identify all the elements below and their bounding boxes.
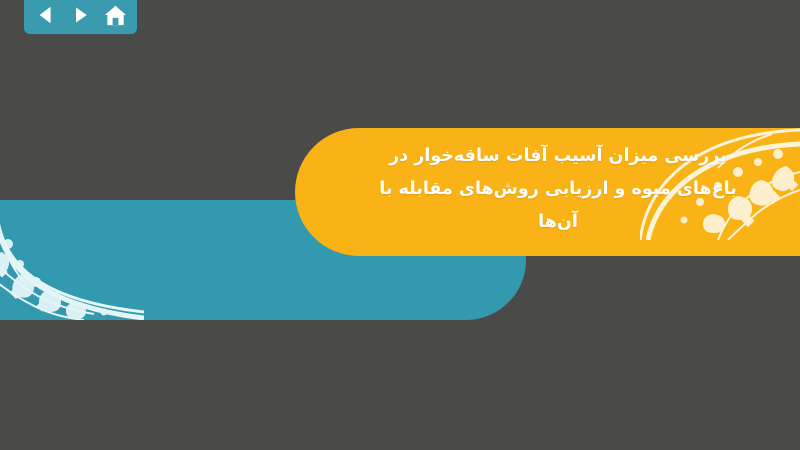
home-button[interactable] — [102, 2, 128, 28]
home-icon — [104, 4, 127, 27]
slide-navigation-bar — [24, 0, 137, 34]
slide-canvas: بررسی میزان آسیب آفات ساقه‌خوار در باغ‌ه… — [0, 0, 800, 450]
teal-arabesque-ornament — [0, 202, 144, 320]
slide-title: بررسی میزان آسیب آفات ساقه‌خوار در باغ‌ه… — [338, 140, 778, 239]
previous-slide-button[interactable] — [33, 2, 59, 28]
title-panel: بررسی میزان آسیب آفات ساقه‌خوار در باغ‌ه… — [295, 128, 800, 256]
next-slide-button[interactable] — [68, 2, 94, 28]
triangle-left-icon — [35, 4, 57, 26]
triangle-right-icon — [71, 5, 91, 25]
